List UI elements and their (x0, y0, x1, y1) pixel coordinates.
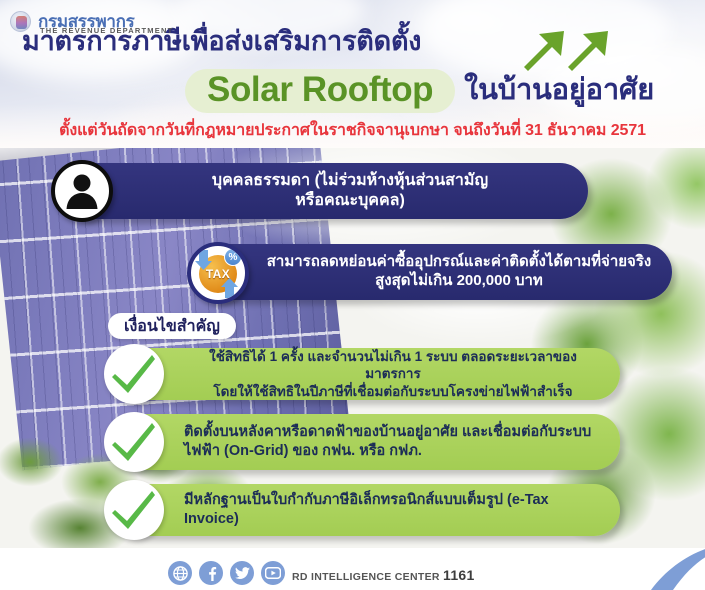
contact-number: 1161 (443, 567, 475, 583)
tax-deduction-icon: TAX % (187, 242, 249, 304)
globe-icon[interactable] (168, 561, 192, 585)
condition-item: ติดตั้งบนหลังคาหรือดาดฟ้าของบ้านอยู่อาศั… (112, 414, 620, 470)
facebook-icon[interactable] (199, 561, 223, 585)
green-check-icon (104, 412, 164, 472)
conditions-heading: เงื่อนไขสำคัญ (108, 313, 236, 339)
green-check-icon (104, 480, 164, 540)
youtube-icon[interactable] (261, 561, 285, 585)
green-check-icon (104, 344, 164, 404)
solar-rooftop-highlight: Solar Rooftop (185, 69, 455, 113)
eligibility-tax-pill: สามารถลดหย่อนค่าซื้ออุปกรณ์และค่าติดตั้ง… (196, 244, 672, 300)
condition-2-line1: ติดตั้งบนหลังคาหรือดาดฟ้าของบ้านอยู่อาศั… (184, 423, 591, 442)
revenue-department-seal-icon (10, 11, 31, 32)
arrow-down-icon (195, 250, 213, 270)
eligibility-person-line2: หรือคณะบุคคล) (212, 191, 488, 211)
person-avatar-icon (51, 160, 113, 222)
twitter-icon[interactable] (230, 561, 254, 585)
condition-1-line1: ใช้สิทธิได้ 1 ครั้ง และจำนวนไม่เกิน 1 ระ… (184, 348, 602, 383)
contact-info: RD INTELLIGENCE CENTER 1161 (292, 567, 475, 583)
organization-name-en: THE REVENUE DEPARTMENT (40, 26, 173, 35)
condition-item: มีหลักฐานเป็นใบกำกับภาษีอิเล็กทรอนิกส์แบ… (112, 484, 620, 536)
arrow-up-icon (221, 278, 239, 298)
contact-label: RD INTELLIGENCE CENTER (292, 571, 440, 583)
infographic-poster: มาตรการภาษีเพื่อส่งเสริมการติดตั้ง Solar… (0, 0, 705, 590)
tax-deduction-line1: สามารถลดหย่อนค่าซื้ออุปกรณ์และค่าติดตั้ง… (267, 253, 651, 272)
swoosh-decoration (595, 548, 705, 590)
condition-2-line2: ไฟฟ้า (On-Grid) ของ กฟน. หรือ กฟภ. (184, 442, 591, 461)
eligibility-person-line1: บุคคลธรรมดา (ไม่ร่วมห้างหุ้นส่วนสามัญ (212, 171, 488, 191)
tax-deduction-line2: สูงสุดไม่เกิน 200,000 บาท (267, 272, 651, 291)
eligibility-person-pill: บุคคลธรรมดา (ไม่ร่วมห้างหุ้นส่วนสามัญ หร… (62, 163, 588, 219)
social-links (168, 561, 285, 585)
page-title-line2-suffix: ในบ้านอยู่อาศัย (464, 76, 654, 105)
condition-item: ใช้สิทธิได้ 1 ครั้ง และจำนวนไม่เกิน 1 ระ… (112, 348, 620, 400)
percent-badge: % (224, 248, 242, 266)
condition-1-line2: โดยให้ใช้สิทธิในปีภาษีที่เชื่อมต่อกับระบ… (184, 383, 602, 401)
condition-3-line1: มีหลักฐานเป็นใบกำกับภาษีอิเล็กทรอนิกส์แบ… (184, 491, 602, 529)
validity-date-line: ตั้งแต่วันถัดจากวันที่กฎหมายประกาศในราชก… (0, 118, 705, 143)
solar-rooftop-title-row: Solar Rooftop ในบ้านอยู่อาศัย (185, 66, 654, 115)
